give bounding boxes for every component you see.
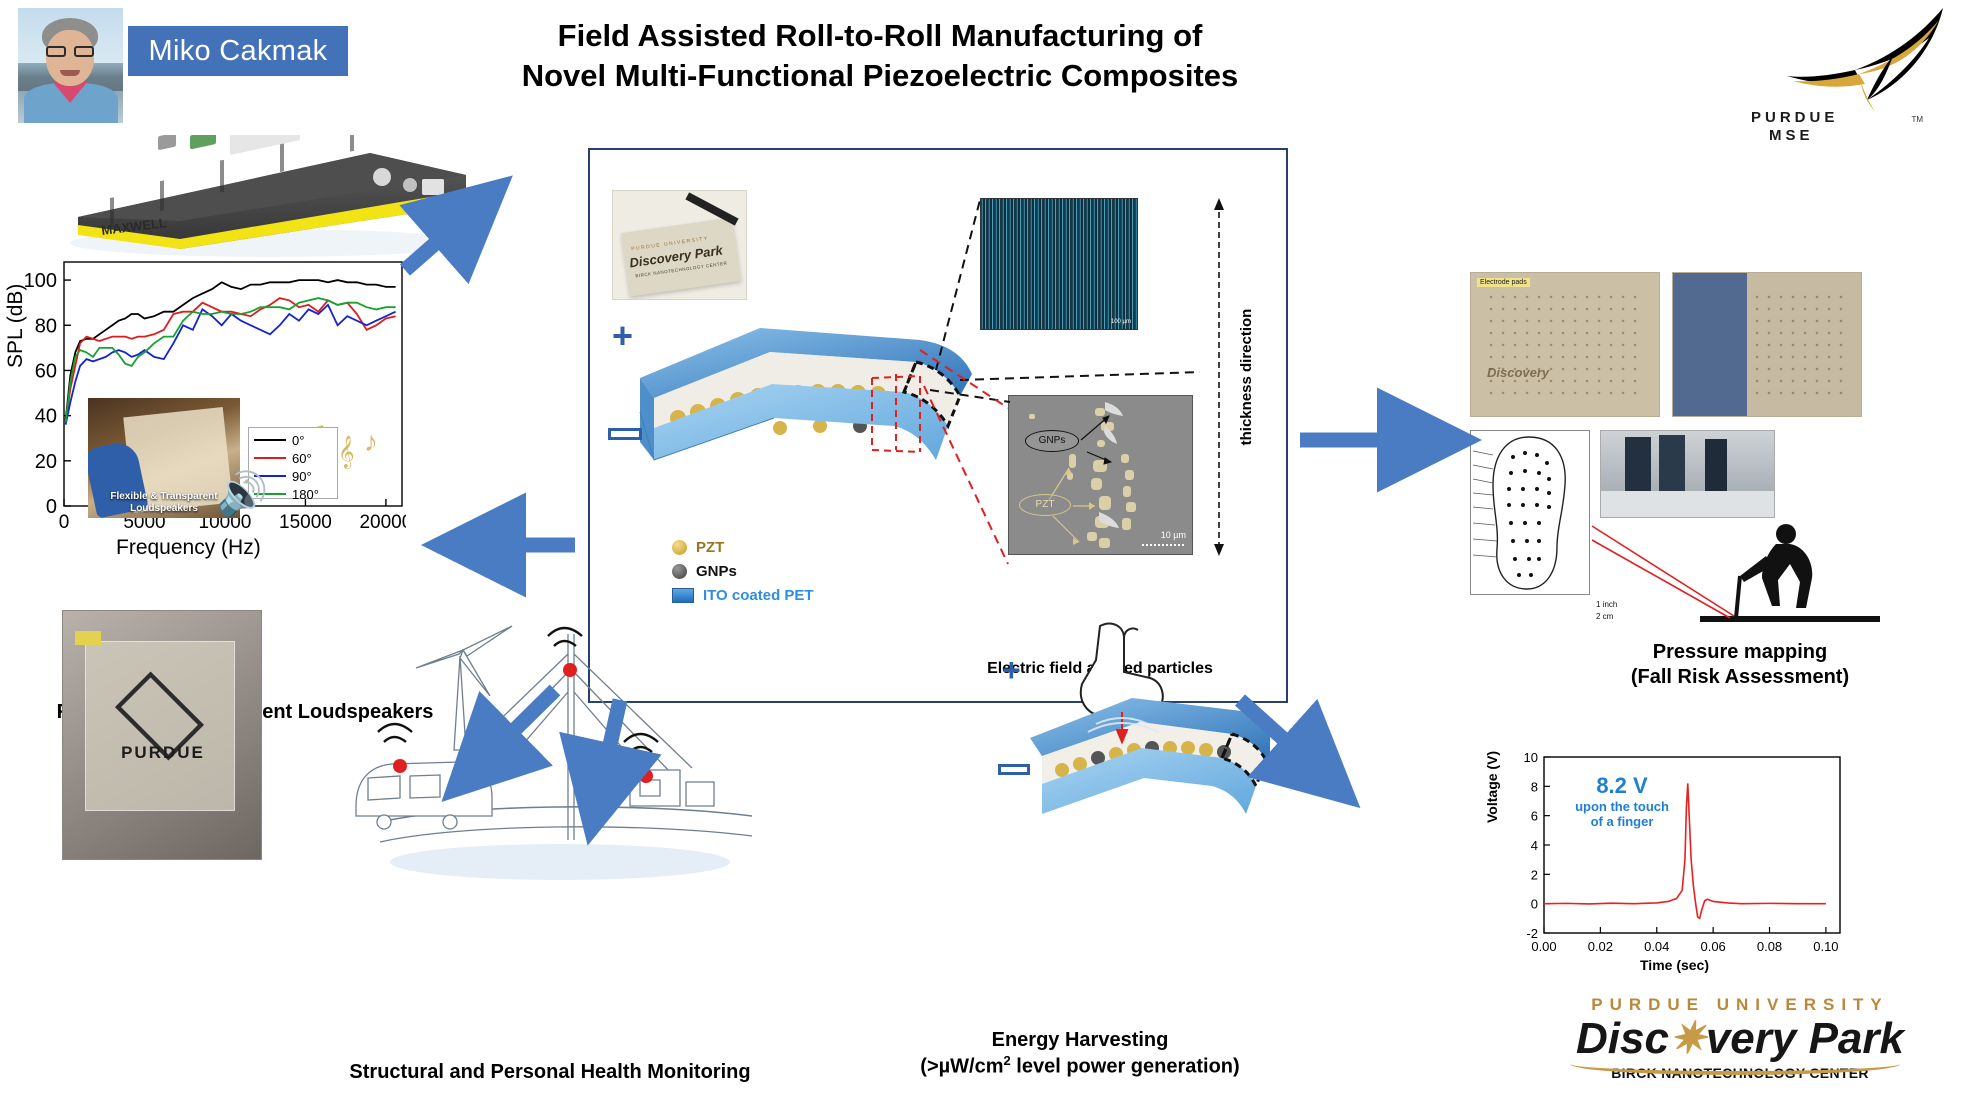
legend-label-180deg: 180° (292, 487, 319, 502)
svg-text:0.10: 0.10 (1813, 939, 1838, 954)
sem-particle-alignment-image: GNPs PZT 10 µm (1008, 395, 1193, 555)
svg-text:0.04: 0.04 (1644, 939, 1669, 954)
electrode-pad-photo-left: Electrode pads Discovery (1470, 272, 1660, 417)
trademark-symbol: TM (1911, 115, 1923, 124)
legend-row-gnps: GNPs (672, 559, 852, 583)
electrode-pads-tag: Electrode pads (1477, 278, 1530, 287)
author-name: Miko Cakmak (149, 35, 328, 68)
composite-sandwich-illustration (620, 300, 1040, 550)
page-title: Field Assisted Roll-to-Roll Manufacturin… (430, 16, 1330, 95)
voltage-annotation: 8.2 V upon the touch of a finger (1552, 773, 1692, 829)
gnps-legend-label: GNPs (696, 563, 737, 580)
ito-square-icon (672, 588, 694, 603)
svg-text:0: 0 (46, 496, 57, 518)
voltage-x-axis-label: Time (sec) (1640, 957, 1709, 973)
energy-positive-symbol: + (1002, 654, 1021, 686)
roll-to-roll-machine-illustration: MAXWELL (70, 135, 470, 260)
foot-pressure-sensor-diagram (1470, 430, 1590, 595)
svg-text:0: 0 (59, 512, 70, 533)
legend-label-60deg: 60° (292, 451, 312, 466)
svg-text:15000: 15000 (279, 512, 332, 533)
electrode-pad-photo-right (1672, 272, 1862, 417)
pressure-caption-line-2: (Fall Risk Assessment) (1520, 665, 1960, 690)
voltage-y-axis-label: Voltage (V) (1484, 751, 1500, 823)
infrastructure-monitoring-illustration (340, 610, 760, 900)
sound-wave-icon: 🔊 (216, 470, 276, 520)
voltage-annotation-value: 8.2 V (1552, 773, 1692, 799)
energy-caption-line-2: (>µW/cm2 level power generation) (880, 1053, 1280, 1080)
caption-health-monitoring: Structural and Personal Health Monitorin… (300, 1060, 800, 1085)
title-line-1: Field Assisted Roll-to-Roll Manufacturin… (430, 16, 1330, 56)
svg-text:10: 10 (1524, 750, 1538, 765)
caption-pressure-mapping: Pressure mapping (Fall Risk Assessment) (1520, 640, 1960, 690)
pzt-legend-label: PZT (696, 539, 724, 556)
svg-text:0.02: 0.02 (1588, 939, 1613, 954)
thickness-direction-label: thickness direction (1238, 309, 1255, 446)
sem-cross-section-image: 100 µm (980, 198, 1138, 330)
sem-bottom-scale-label: 10 µm (1161, 530, 1186, 540)
walking-on-sensor-photo (1600, 430, 1775, 518)
purdue-wordmark: PURDUE (1751, 109, 1838, 126)
legend-label-0deg: 0° (292, 433, 304, 448)
voltage-touch-chart: -202468100.000.020.040.060.080.10 Voltag… (1490, 745, 1870, 980)
svg-text:60: 60 (35, 360, 57, 382)
svg-text:80: 80 (35, 315, 57, 337)
svg-text:6: 6 (1531, 809, 1538, 824)
discovery-park-logo: PURDUE UNIVERSITY Disc✷very Park BIRCK N… (1530, 995, 1950, 1100)
svg-text:0.00: 0.00 (1531, 939, 1556, 954)
svg-text:20: 20 (35, 451, 57, 473)
legend-row: 60° (254, 450, 332, 466)
author-photo (18, 8, 123, 123)
energy-negative-symbol (998, 764, 1030, 775)
sem-gnps-label: GNPs (1025, 430, 1079, 452)
svg-text:4: 4 (1531, 838, 1538, 853)
voltage-annotation-sub-1: upon the touch (1552, 799, 1692, 814)
purdue-mse-logo: PURDUE MSE TM (1743, 4, 1953, 144)
svg-text:0.08: 0.08 (1757, 939, 1782, 954)
svg-text:2: 2 (1531, 867, 1538, 882)
spl-x-axis-label: Frequency (Hz) (116, 536, 261, 560)
legend-swatch-0deg (254, 439, 286, 441)
legend-label-90deg: 90° (292, 469, 312, 484)
svg-text:8: 8 (1531, 779, 1538, 794)
dp-logo-top-text: PURDUE UNIVERSITY (1530, 995, 1950, 1015)
energy-caption-line-1: Energy Harvesting (880, 1028, 1280, 1053)
legend-swatch-60deg (254, 457, 286, 459)
film-photo-text: PURDUE (103, 743, 223, 763)
energy-harvesting-device-illustration (1000, 620, 1270, 870)
pzt-dot-icon (672, 540, 687, 555)
thickness-direction-axis: thickness direction (1202, 198, 1236, 556)
title-line-2: Novel Multi-Functional Piezoelectric Com… (430, 56, 1330, 96)
mse-wordmark: MSE (1769, 127, 1814, 144)
material-legend: PZT GNPs ITO coated PET (672, 535, 852, 607)
sem-top-scalebar-label: 100 µm (1111, 319, 1131, 325)
legend-row: 0° (254, 432, 332, 448)
spl-y-axis-label: SPL (dB) (4, 284, 28, 368)
svg-text:20000: 20000 (359, 512, 406, 533)
pressure-caption-line-1: Pressure mapping (1520, 640, 1960, 665)
sem-bottom-scalebar (1142, 544, 1184, 546)
gnps-dot-icon (672, 564, 687, 579)
ito-legend-label: ITO coated PET (703, 587, 814, 604)
svg-text:0.06: 0.06 (1700, 939, 1725, 954)
svg-text:100: 100 (24, 270, 57, 292)
walker-silhouette-illustration (1590, 520, 1880, 630)
svg-text:0: 0 (1531, 897, 1538, 912)
sem-pzt-label: PZT (1019, 494, 1071, 516)
positive-electrode-symbol: + (612, 318, 633, 354)
svg-text:40: 40 (35, 406, 57, 428)
discovery-park-film-photo: PURDUE UNIVERSITY Discovery Park BIRCK N… (612, 190, 747, 300)
voltage-annotation-sub-2: of a finger (1552, 814, 1692, 829)
legend-row-ito: ITO coated PET (672, 583, 852, 607)
legend-row-pzt: PZT (672, 535, 852, 559)
caption-energy-harvesting: Energy Harvesting (>µW/cm2 level power g… (880, 1028, 1280, 1080)
purdue-motion-p-icon (1743, 4, 1953, 124)
purdue-film-photo: PURDUE (62, 610, 262, 860)
negative-electrode-symbol (608, 428, 642, 440)
author-name-plate: Miko Cakmak (128, 26, 348, 76)
